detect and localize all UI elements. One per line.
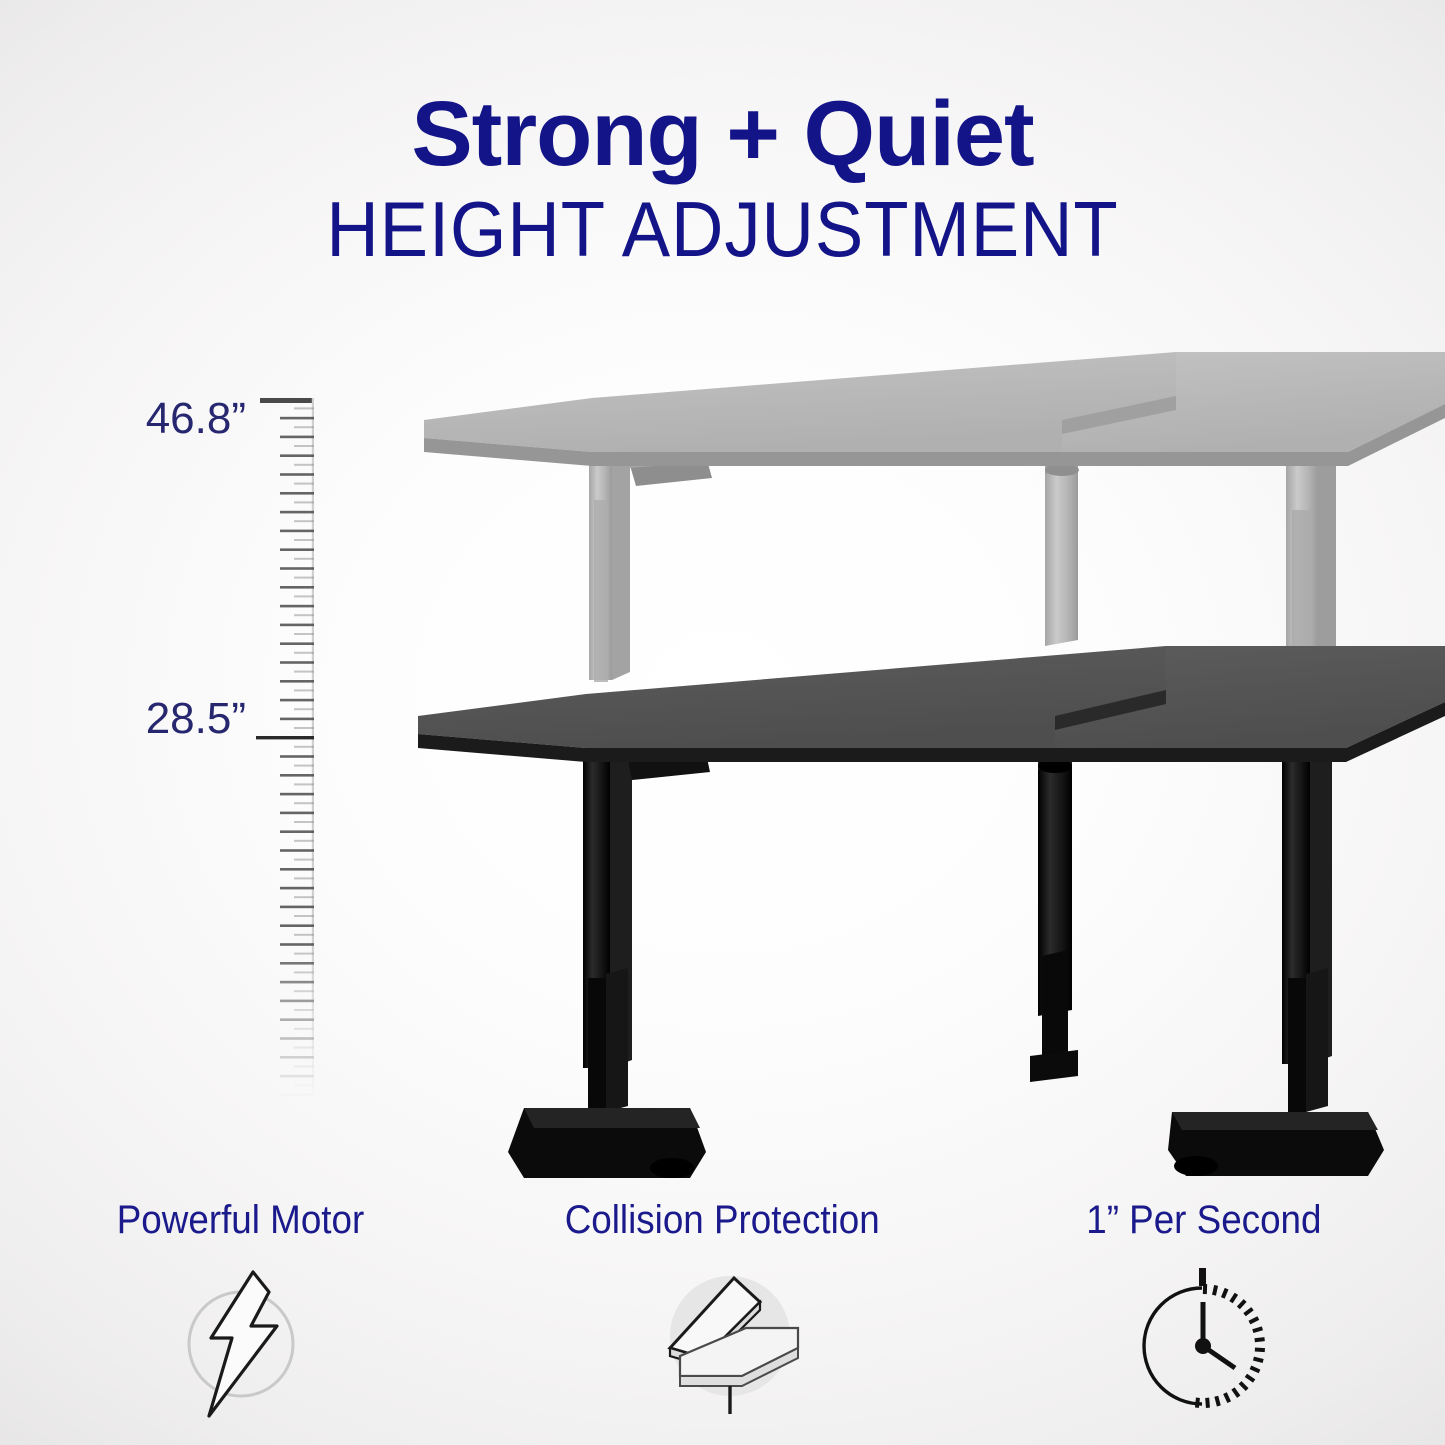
desk-collision-icon: [638, 1266, 808, 1426]
raised-desk-control-panel: [629, 456, 712, 486]
height-range-scale: 46.8” 28.5”: [118, 380, 328, 1100]
feature-powerful-motor: Powerful Motor: [0, 1196, 482, 1445]
clock-icon: [1119, 1266, 1289, 1426]
feature-label-collision-protection: Collision Protection: [565, 1196, 880, 1244]
raised-desk-main-surface: [424, 352, 1176, 452]
page-title: Strong + Quiet: [0, 86, 1445, 182]
lowered-desk-corner-leg: [1030, 712, 1078, 1082]
lowered-desk-right-leg: [1168, 734, 1384, 1176]
lowered-desk-left-leg: [508, 742, 706, 1178]
raised-desk-left-leg: [589, 442, 630, 682]
ruler-graphic: [256, 398, 314, 1098]
page-subtitle: HEIGHT ADJUSTMENT: [51, 186, 1395, 272]
lowered-desk-main-surface: [418, 646, 1166, 748]
infographic-canvas: Strong + Quiet HEIGHT ADJUSTMENT: [0, 0, 1445, 1445]
raised-desk-corner-leg: [1045, 422, 1079, 646]
raised-desk-gray: [424, 352, 1445, 682]
max-height-label: 46.8”: [146, 396, 246, 442]
raised-desk-right-leg: [1286, 448, 1336, 662]
feature-label-speed: 1” Per Second: [1087, 1196, 1322, 1244]
lowered-desk-black: [418, 646, 1445, 1178]
feature-row: Powerful Motor Collision Protection: [0, 1196, 1445, 1445]
feature-label-powerful-motor: Powerful Motor: [117, 1196, 364, 1244]
feature-speed: 1” Per Second: [963, 1196, 1445, 1445]
lowered-desk-control-panel: [626, 744, 710, 780]
lightning-bolt-icon: [156, 1266, 326, 1426]
min-height-label: 28.5”: [146, 696, 246, 742]
lowered-desk-right-surface: [1055, 646, 1445, 748]
feature-collision-protection: Collision Protection: [482, 1196, 964, 1445]
raised-desk-right-surface: [1062, 352, 1445, 452]
